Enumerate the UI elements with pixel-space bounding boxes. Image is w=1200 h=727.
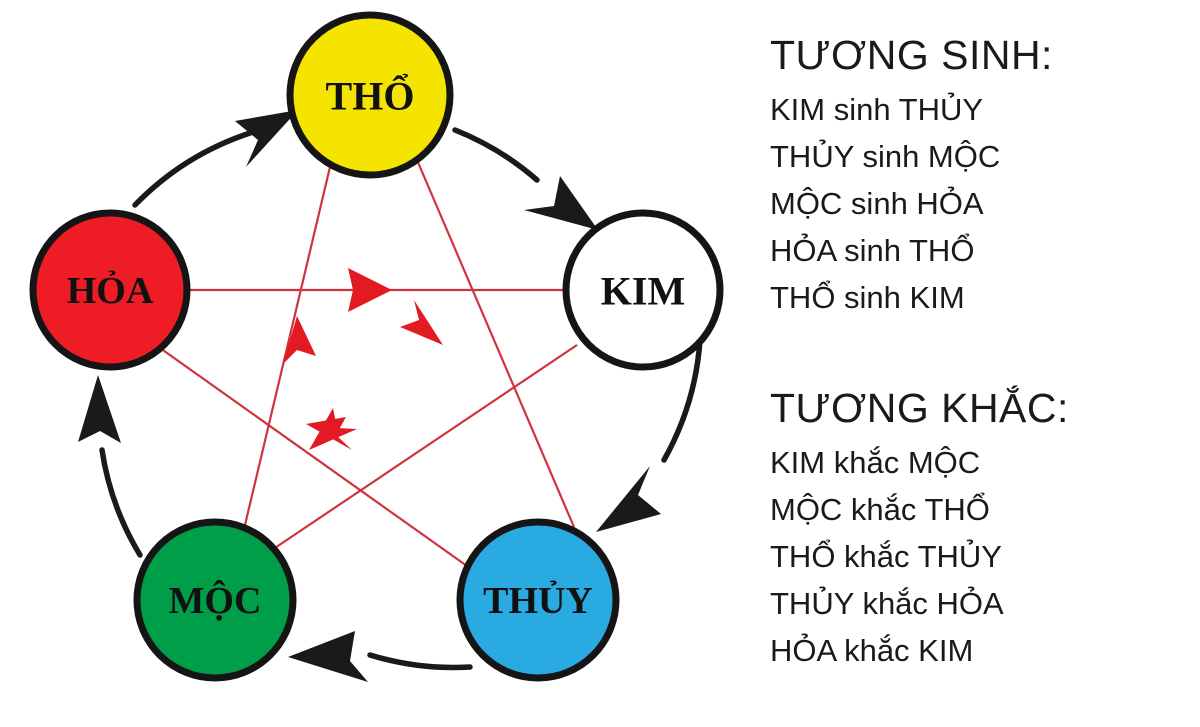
node-tho-label: THỔ xyxy=(326,73,415,119)
line-moc-to-tho xyxy=(245,167,330,525)
legend-overcoming-item: KIM khắc MỘC xyxy=(770,439,1200,486)
node-hoa-label: HỎA xyxy=(67,270,154,312)
node-thuy-label: THỦY xyxy=(483,580,593,622)
node-kim[interactable]: KIM xyxy=(566,213,720,367)
wuxing-svg: THỔ KIM THỦY MỘC HỎA xyxy=(0,0,750,727)
legend-generating: TƯƠNG SINH: KIM sinh THỦY THỦY sinh MỘC … xyxy=(770,30,1200,321)
legend-panel: TƯƠNG SINH: KIM sinh THỦY THỦY sinh MỘC … xyxy=(760,0,1200,727)
legend-overcoming-item: HỎA khắc KIM xyxy=(770,627,1200,674)
arc-hoa-to-tho xyxy=(135,133,250,205)
legend-generating-item: HỎA sinh THỔ xyxy=(770,227,1200,274)
node-hoa[interactable]: HỎA xyxy=(33,213,187,367)
legend-overcoming: TƯƠNG KHẮC: KIM khắc MỘC MỘC khắc THỔ TH… xyxy=(770,383,1200,674)
node-moc-label: MỘC xyxy=(169,579,262,622)
element-nodes: THỔ KIM THỦY MỘC HỎA xyxy=(33,15,720,678)
overcoming-arrowheads xyxy=(283,268,443,450)
arrowhead-tho-to-kim xyxy=(524,176,598,230)
node-moc[interactable]: MỘC xyxy=(137,522,293,678)
arrowhead-kim-to-thuy xyxy=(596,466,661,532)
overcoming-pentagram xyxy=(160,160,577,566)
legend-overcoming-heading: TƯƠNG KHẮC: xyxy=(770,383,1200,433)
arrowhead-thuy-to-moc xyxy=(288,631,368,682)
legend-generating-list: KIM sinh THỦY THỦY sinh MỘC MỘC sinh HỎA… xyxy=(770,86,1200,321)
arrowhead-moc-to-hoa xyxy=(78,375,121,443)
legend-overcoming-list: KIM khắc MỘC MỘC khắc THỔ THỔ khắc THỦY … xyxy=(770,439,1200,674)
arrowhead-hoa-to-kim xyxy=(348,268,392,312)
arrowhead-tho-to-thuy xyxy=(400,300,443,345)
arc-thuy-to-moc xyxy=(370,655,470,667)
node-kim-label: KIM xyxy=(601,269,685,314)
wuxing-infographic: THỔ KIM THỦY MỘC HỎA xyxy=(0,0,1200,727)
legend-generating-item: KIM sinh THỦY xyxy=(770,86,1200,133)
node-thuy[interactable]: THỦY xyxy=(460,522,616,678)
legend-generating-item: THỔ sinh KIM xyxy=(770,274,1200,321)
node-tho[interactable]: THỔ xyxy=(290,15,450,175)
legend-generating-item: THỦY sinh MỘC xyxy=(770,133,1200,180)
legend-overcoming-item: MỘC khắc THỔ xyxy=(770,486,1200,533)
legend-overcoming-item: THỦY khắc HỎA xyxy=(770,580,1200,627)
legend-overcoming-item: THỔ khắc THỦY xyxy=(770,533,1200,580)
arc-tho-to-kim xyxy=(455,130,537,180)
wuxing-diagram: THỔ KIM THỦY MỘC HỎA xyxy=(0,0,750,727)
legend-generating-item: MỘC sinh HỎA xyxy=(770,180,1200,227)
legend-generating-heading: TƯƠNG SINH: xyxy=(770,30,1200,80)
arrowhead-hoa-to-tho xyxy=(235,110,298,167)
arc-moc-to-hoa xyxy=(102,450,140,555)
